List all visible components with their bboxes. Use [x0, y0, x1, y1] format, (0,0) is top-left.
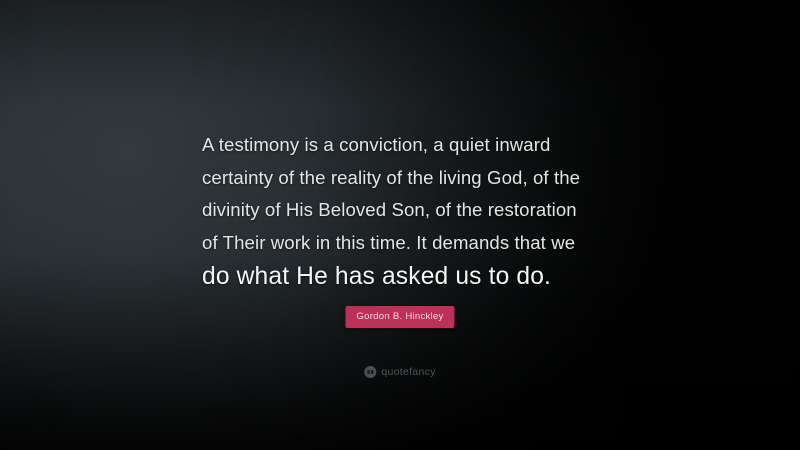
quote-mark-circle-icon	[364, 366, 376, 378]
poster-content: A testimony is a conviction, a quiet inw…	[0, 0, 800, 450]
author-badge[interactable]: Gordon B. Hinckley	[345, 306, 454, 328]
quote-line-5-emphasis: do what He has asked us to do.	[202, 259, 602, 294]
quote-line-4: of Their work in this time. It demands t…	[202, 227, 602, 260]
quote-poster: A testimony is a conviction, a quiet inw…	[0, 0, 800, 450]
watermark[interactable]: quotefancy	[364, 366, 435, 378]
watermark-brand-label: quotefancy	[381, 366, 435, 378]
quote-text-block: A testimony is a conviction, a quiet inw…	[202, 129, 602, 294]
quote-line-1: A testimony is a conviction, a quiet inw…	[202, 129, 602, 162]
quote-line-3: divinity of His Beloved Son, of the rest…	[202, 194, 602, 227]
quote-line-2: certainty of the reality of the living G…	[202, 162, 602, 195]
